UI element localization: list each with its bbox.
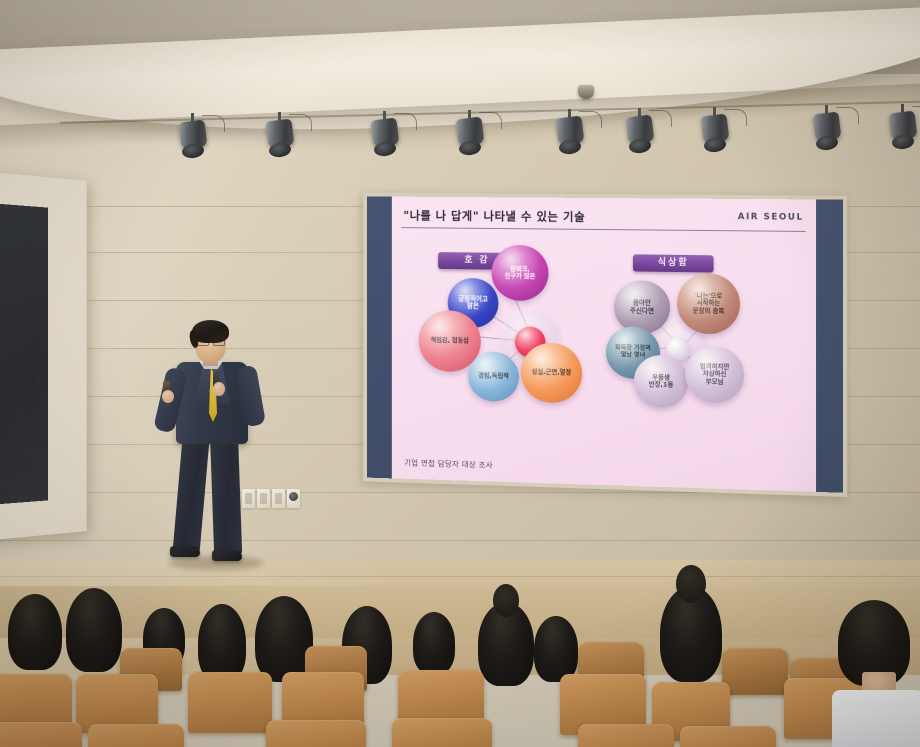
dome-camera-icon [578, 85, 594, 99]
wall-volume-knob[interactable] [287, 489, 300, 508]
audience-shirt [832, 690, 920, 747]
stage-spotlight [370, 111, 400, 157]
stage-spotlight [812, 105, 842, 151]
audience-head [413, 612, 455, 674]
bubble-top-student-class-president: 우등생 반장,1등 [634, 355, 688, 409]
audience-head [660, 586, 722, 682]
audience-seat [0, 722, 82, 747]
bubble-label: 성실,근면,열정 [532, 369, 572, 377]
audience-head [8, 594, 62, 670]
bubble-label: 책임감, 협동심 [431, 337, 469, 345]
bubble-label: 몸아만 주신다면 [630, 300, 654, 315]
audience-seat [188, 672, 272, 733]
speaker-shoe [212, 550, 242, 561]
stage-spotlight [555, 109, 585, 155]
audience-area [0, 586, 920, 747]
lecture-hall-photo: "나를 나 답게" 나타낼 수 있는 기술 AIR SEOUL 호 감 식상함 [0, 0, 920, 747]
audience-seat [722, 648, 788, 695]
bubble-label: 경험,독립적 [478, 373, 509, 381]
stage-spotlight [700, 107, 730, 153]
stage-spotlight [888, 104, 918, 150]
stage-spotlight [178, 113, 208, 159]
stage-spotlight [265, 112, 295, 158]
bubble-label: 엄격하지만 자상하신 부모님 [700, 364, 729, 386]
stage-spotlight [625, 108, 655, 154]
bubble-label: 화목한 가정의 몇남 몇녀 [615, 345, 651, 359]
bubble-i-sentence-repeat: '나는'으로 시작하는 문장의 중복 [677, 273, 740, 335]
bubble-label: 우등생 반장,1등 [649, 374, 674, 389]
wall-outlet-plate[interactable] [272, 489, 285, 508]
audience-seat [578, 724, 674, 747]
audience-seat [88, 724, 184, 747]
bubble-strict-but-kind-parents: 엄격하지만 자상하신 부모님 [685, 346, 744, 404]
stage-spotlight [455, 110, 485, 156]
speaker-legs [176, 430, 252, 558]
audience-seat [392, 718, 492, 747]
bubble-label: 팀워크, 친구가 많은 [504, 266, 535, 281]
speaker-hand-right [213, 382, 225, 396]
bubble-teamwork-friends: 팀워크, 친구가 많은 [492, 245, 549, 301]
bubble-sincerity-diligence-passion: 성실,근면,열정 [521, 342, 582, 403]
audience-head [534, 616, 578, 682]
audience-seat [266, 720, 366, 747]
audience-head [198, 604, 246, 682]
projection-screen: "나를 나 답게" 나타낼 수 있는 기술 AIR SEOUL 호 감 식상함 [367, 196, 843, 492]
bubble-body-only: 몸아만 주신다면 [614, 280, 670, 334]
audience-head [66, 588, 122, 672]
presentation-slide: "나를 나 답게" 나타낼 수 있는 기술 AIR SEOUL 호 감 식상함 [367, 196, 843, 492]
bubble-label: '나는'으로 시작하는 문장의 중복 [693, 293, 725, 315]
audience-head [478, 602, 534, 686]
wall-switch-plate[interactable] [257, 489, 270, 508]
speaker-hand-left [162, 390, 174, 403]
bubble-experience-independent: 경험,독립적 [468, 351, 519, 402]
wall-display-screen [0, 202, 48, 505]
audience-seat [680, 726, 776, 747]
bubble-label: 긍정적이고 밝은 [458, 295, 488, 310]
speaker-shoe [170, 546, 200, 557]
